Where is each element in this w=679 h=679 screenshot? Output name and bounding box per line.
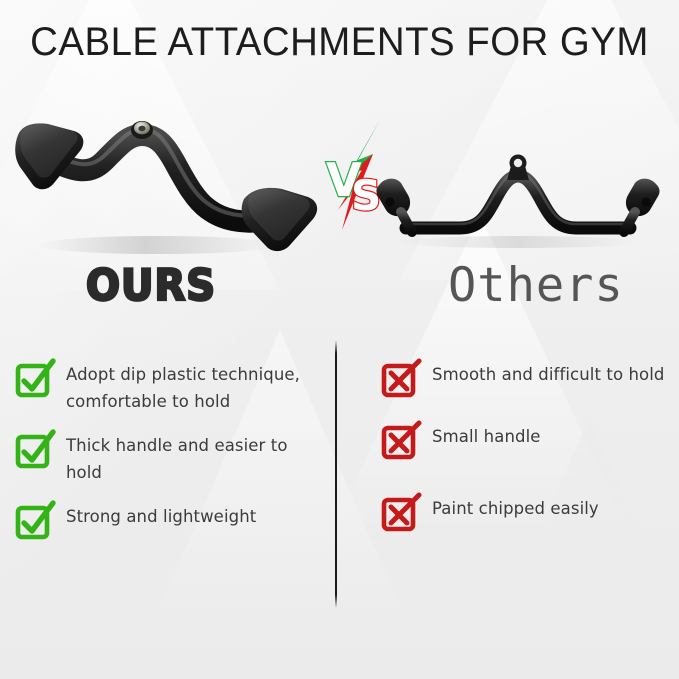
page-title: CABLE ATTACHMENTS FOR GYM [14, 20, 666, 64]
list-item: Small handle [378, 420, 668, 464]
product-image-others [368, 150, 668, 250]
feature-list-ours: Adopt dip plastic technique, comfortable… [12, 358, 322, 562]
feature-text: Strong and lightweight [66, 500, 256, 530]
product-image-ours [8, 95, 328, 260]
brand-label-others: Others [448, 258, 624, 313]
list-item: Thick handle and easier to hold [12, 429, 322, 486]
red-x-box-icon [378, 492, 422, 536]
column-divider [335, 340, 337, 608]
list-item: Strong and lightweight [12, 500, 322, 544]
feature-text: Paint chipped easily [432, 492, 599, 522]
feature-text: Small handle [432, 420, 541, 450]
list-item: Adopt dip plastic technique, comfortable… [12, 358, 322, 415]
list-item: Smooth and difficult to hold [378, 358, 668, 402]
green-check-box-icon [12, 358, 56, 402]
red-x-box-icon [378, 420, 422, 464]
feature-list-others: Smooth and difficult to hold Small handl… [378, 358, 668, 554]
list-item: Paint chipped easily [378, 492, 668, 536]
red-x-box-icon [378, 358, 422, 402]
brand-label-ours: OURS [86, 262, 216, 311]
green-check-box-icon [12, 500, 56, 544]
green-check-box-icon [12, 429, 56, 473]
infographic-page: CABLE ATTACHMENTS FOR GYM [0, 0, 679, 679]
feature-text: Thick handle and easier to hold [66, 429, 322, 486]
feature-text: Adopt dip plastic technique, comfortable… [66, 358, 322, 415]
feature-text: Smooth and difficult to hold [432, 358, 665, 388]
